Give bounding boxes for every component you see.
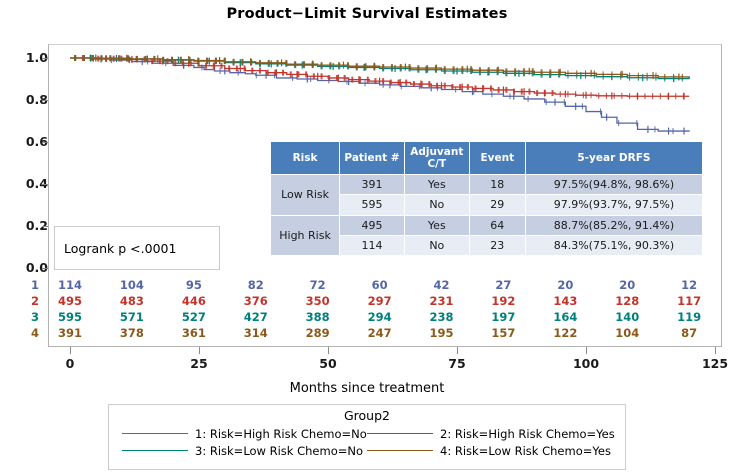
table-header-cell: Event	[469, 142, 525, 175]
legend-row: 1: Risk=High Risk Chemo=No2: Risk=High R…	[109, 425, 625, 442]
table-cell-chemo: No	[404, 195, 469, 215]
table-cell-event: 29	[469, 195, 525, 215]
table-cell-drfs: 84.3%(75.1%, 90.3%)	[525, 235, 702, 255]
at-risk-count: 192	[491, 294, 515, 308]
table-cell-drfs: 88.7%(85.2%, 91.4%)	[525, 215, 702, 235]
at-risk-count: 60	[372, 278, 388, 292]
at-risk-count: 87	[681, 326, 697, 340]
at-risk-row-label: 4	[28, 326, 42, 340]
at-risk-count: 122	[553, 326, 577, 340]
table-cell-drfs: 97.9%(93.7%, 97.5%)	[525, 195, 702, 215]
legend-item[interactable]: 3: Risk=Low Risk Chemo=No	[122, 444, 367, 458]
at-risk-count: 12	[681, 278, 697, 292]
at-risk-count: 114	[58, 278, 82, 292]
risk-summary-table: RiskPatient #Adjuvant C/TEvent5-year DRF…	[270, 141, 703, 256]
risk-group-cell: High Risk	[271, 215, 340, 255]
at-risk-count: 27	[495, 278, 511, 292]
at-risk-count: 82	[248, 278, 264, 292]
legend-label: 2: Risk=High Risk Chemo=Yes	[440, 427, 615, 441]
at-risk-count: 427	[244, 310, 268, 324]
at-risk-count: 164	[553, 310, 577, 324]
x-axis-tick-mark	[70, 347, 71, 354]
at-risk-count: 117	[677, 294, 701, 308]
x-axis-tick-mark	[457, 347, 458, 354]
at-risk-count: 571	[120, 310, 144, 324]
at-risk-count: 294	[368, 310, 392, 324]
at-risk-count: 95	[186, 278, 202, 292]
at-risk-count: 376	[244, 294, 268, 308]
at-risk-count: 72	[310, 278, 326, 292]
legend-line-swatch	[122, 450, 188, 451]
x-axis-tick-label: 50	[319, 356, 336, 371]
table-header-cell: Adjuvant C/T	[404, 142, 469, 175]
at-risk-count: 197	[491, 310, 515, 324]
legend-label: 1: Risk=High Risk Chemo=No	[195, 427, 367, 441]
x-axis-tick-label: 125	[702, 356, 728, 371]
at-risk-count: 388	[306, 310, 330, 324]
logrank-text: Logrank p <.0001	[64, 241, 176, 256]
legend-line-swatch	[122, 433, 188, 434]
at-risk-count: 247	[368, 326, 392, 340]
x-axis-label: Months since treatment	[0, 381, 734, 396]
at-risk-count: 42	[434, 278, 450, 292]
at-risk-count: 119	[677, 310, 701, 324]
at-risk-count: 297	[368, 294, 392, 308]
x-axis-tick-label: 25	[190, 356, 207, 371]
table-cell-patients: 495	[340, 215, 405, 235]
at-risk-count: 104	[120, 278, 144, 292]
legend-line-swatch	[367, 433, 433, 434]
at-risk-count: 378	[120, 326, 144, 340]
at-risk-count: 195	[430, 326, 454, 340]
logrank-annotation: Logrank p <.0001	[54, 226, 220, 270]
table-cell-chemo: No	[404, 235, 469, 255]
x-axis-tick-mark	[328, 347, 329, 354]
x-axis-tick-mark	[715, 347, 716, 354]
table-cell-patients: 595	[340, 195, 405, 215]
table-cell-chemo: Yes	[404, 175, 469, 195]
legend-label: 4: Risk=Low Risk Chemo=Yes	[440, 444, 611, 458]
x-axis-tick-label: 100	[573, 356, 599, 371]
at-risk-count: 446	[182, 294, 206, 308]
at-risk-count: 527	[182, 310, 206, 324]
x-axis-tick-mark	[199, 347, 200, 354]
at-risk-count: 140	[615, 310, 639, 324]
at-risk-count: 391	[58, 326, 82, 340]
at-risk-count: 314	[244, 326, 268, 340]
legend-item[interactable]: 4: Risk=Low Risk Chemo=Yes	[367, 444, 612, 458]
legend-title: Group2	[109, 408, 625, 423]
table-cell-patients: 391	[340, 175, 405, 195]
table-row: Low Risk391Yes1897.5%(94.8%, 98.6%)	[271, 175, 703, 195]
risk-group-cell: Low Risk	[271, 175, 340, 215]
at-risk-count: 361	[182, 326, 206, 340]
table-row: High Risk495Yes6488.7%(85.2%, 91.4%)	[271, 215, 703, 235]
legend-item[interactable]: 2: Risk=High Risk Chemo=Yes	[367, 427, 612, 441]
at-risk-count: 289	[306, 326, 330, 340]
legend-item[interactable]: 1: Risk=High Risk Chemo=No	[122, 427, 367, 441]
at-risk-row-label: 2	[28, 294, 42, 308]
legend-row: 3: Risk=Low Risk Chemo=No4: Risk=Low Ris…	[109, 442, 625, 459]
at-risk-row-label: 1	[28, 278, 42, 292]
page-title: Product−Limit Survival Estimates	[0, 6, 734, 22]
table-cell-drfs: 97.5%(94.8%, 98.6%)	[525, 175, 702, 195]
at-risk-count: 231	[430, 294, 454, 308]
at-risk-counts: 1114104958272604227202012249548344637635…	[0, 278, 734, 344]
at-risk-count: 20	[557, 278, 573, 292]
legend-line-swatch	[367, 450, 433, 451]
at-risk-count: 238	[430, 310, 454, 324]
x-axis-tick-mark	[586, 347, 587, 354]
table-cell-event: 64	[469, 215, 525, 235]
table-cell-chemo: Yes	[404, 215, 469, 235]
at-risk-count: 20	[619, 278, 635, 292]
table-cell-event: 18	[469, 175, 525, 195]
table-header-cell: Risk	[271, 142, 340, 175]
legend: Group2 1: Risk=High Risk Chemo=No2: Risk…	[108, 404, 626, 470]
table-header-row: RiskPatient #Adjuvant C/TEvent5-year DRF…	[271, 142, 703, 175]
at-risk-count: 128	[615, 294, 639, 308]
table-cell-event: 23	[469, 235, 525, 255]
table-cell-patients: 114	[340, 235, 405, 255]
at-risk-row-label: 3	[28, 310, 42, 324]
at-risk-count: 104	[615, 326, 639, 340]
table-header-cell: 5-year DRFS	[525, 142, 702, 175]
y-axis: 1.00.80.60.40.20.0	[0, 0, 48, 474]
at-risk-count: 495	[58, 294, 82, 308]
at-risk-count: 483	[120, 294, 144, 308]
at-risk-count: 143	[553, 294, 577, 308]
table-header-cell: Patient #	[340, 142, 405, 175]
legend-label: 3: Risk=Low Risk Chemo=No	[195, 444, 363, 458]
at-risk-count: 350	[306, 294, 330, 308]
at-risk-count: 157	[491, 326, 515, 340]
at-risk-count: 595	[58, 310, 82, 324]
x-axis-tick-label: 0	[66, 356, 75, 371]
x-axis-tick-label: 75	[448, 356, 465, 371]
